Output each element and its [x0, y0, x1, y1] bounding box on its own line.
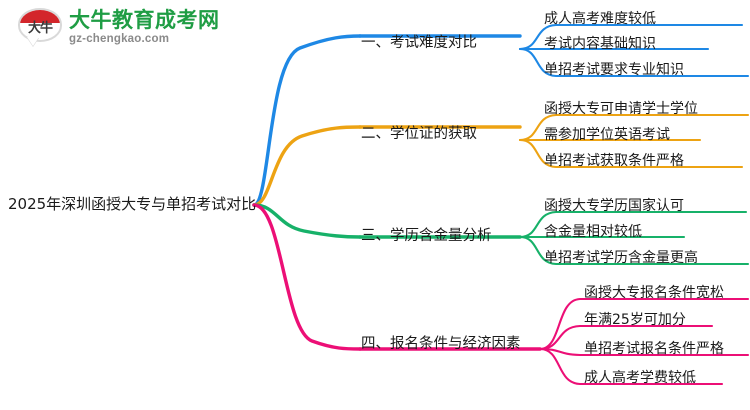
branch-label-1[interactable]: 一、考试难度对比 — [361, 31, 477, 52]
branch-4-trunk — [254, 205, 360, 349]
site-logo[interactable]: 大牛 大牛教育成考网 gz-chengkao.com — [18, 8, 220, 48]
leaf-2-3[interactable]: 单招考试获取条件严格 — [544, 150, 684, 170]
leaf-3-3[interactable]: 单招考试学历含金量更高 — [544, 247, 698, 267]
leaf-4-1[interactable]: 函授大专报名条件宽松 — [584, 282, 724, 302]
branch-label-4[interactable]: 四、报名条件与经济因素 — [361, 332, 521, 353]
logo-name-cn: 大牛教育成考网 — [69, 10, 220, 31]
logo-speech-bubble-icon: 大牛 — [18, 8, 62, 48]
leaf-4-3[interactable]: 单招考试报名条件严格 — [584, 338, 724, 358]
leaf-2-2[interactable]: 需参加学位英语考试 — [544, 124, 670, 144]
branch-label-2[interactable]: 二、学位证的获取 — [361, 122, 477, 143]
branch-label-3[interactable]: 三、学历含金量分析 — [361, 224, 492, 245]
logo-mark-text: 大牛 — [18, 13, 62, 39]
logo-name-en: gz-chengkao.com — [69, 34, 220, 46]
leaf-4-4[interactable]: 成人高考学费较低 — [584, 367, 696, 387]
leaf-3-1[interactable]: 函授大专学历国家认可 — [544, 195, 684, 215]
leaf-4-2[interactable]: 年满25岁可加分 — [584, 309, 686, 329]
leaf-2-1[interactable]: 函授大专可申请学士学位 — [544, 98, 698, 118]
leaf-1-2[interactable]: 考试内容基础知识 — [544, 33, 656, 53]
mindmap-root-label: 2025年深圳函授大专与单招考试对比 — [8, 193, 256, 214]
leaf-1-3[interactable]: 单招考试要求专业知识 — [544, 59, 684, 79]
leaf-1-1[interactable]: 成人高考难度较低 — [544, 8, 656, 28]
leaf-3-2[interactable]: 含金量相对较低 — [544, 221, 642, 241]
